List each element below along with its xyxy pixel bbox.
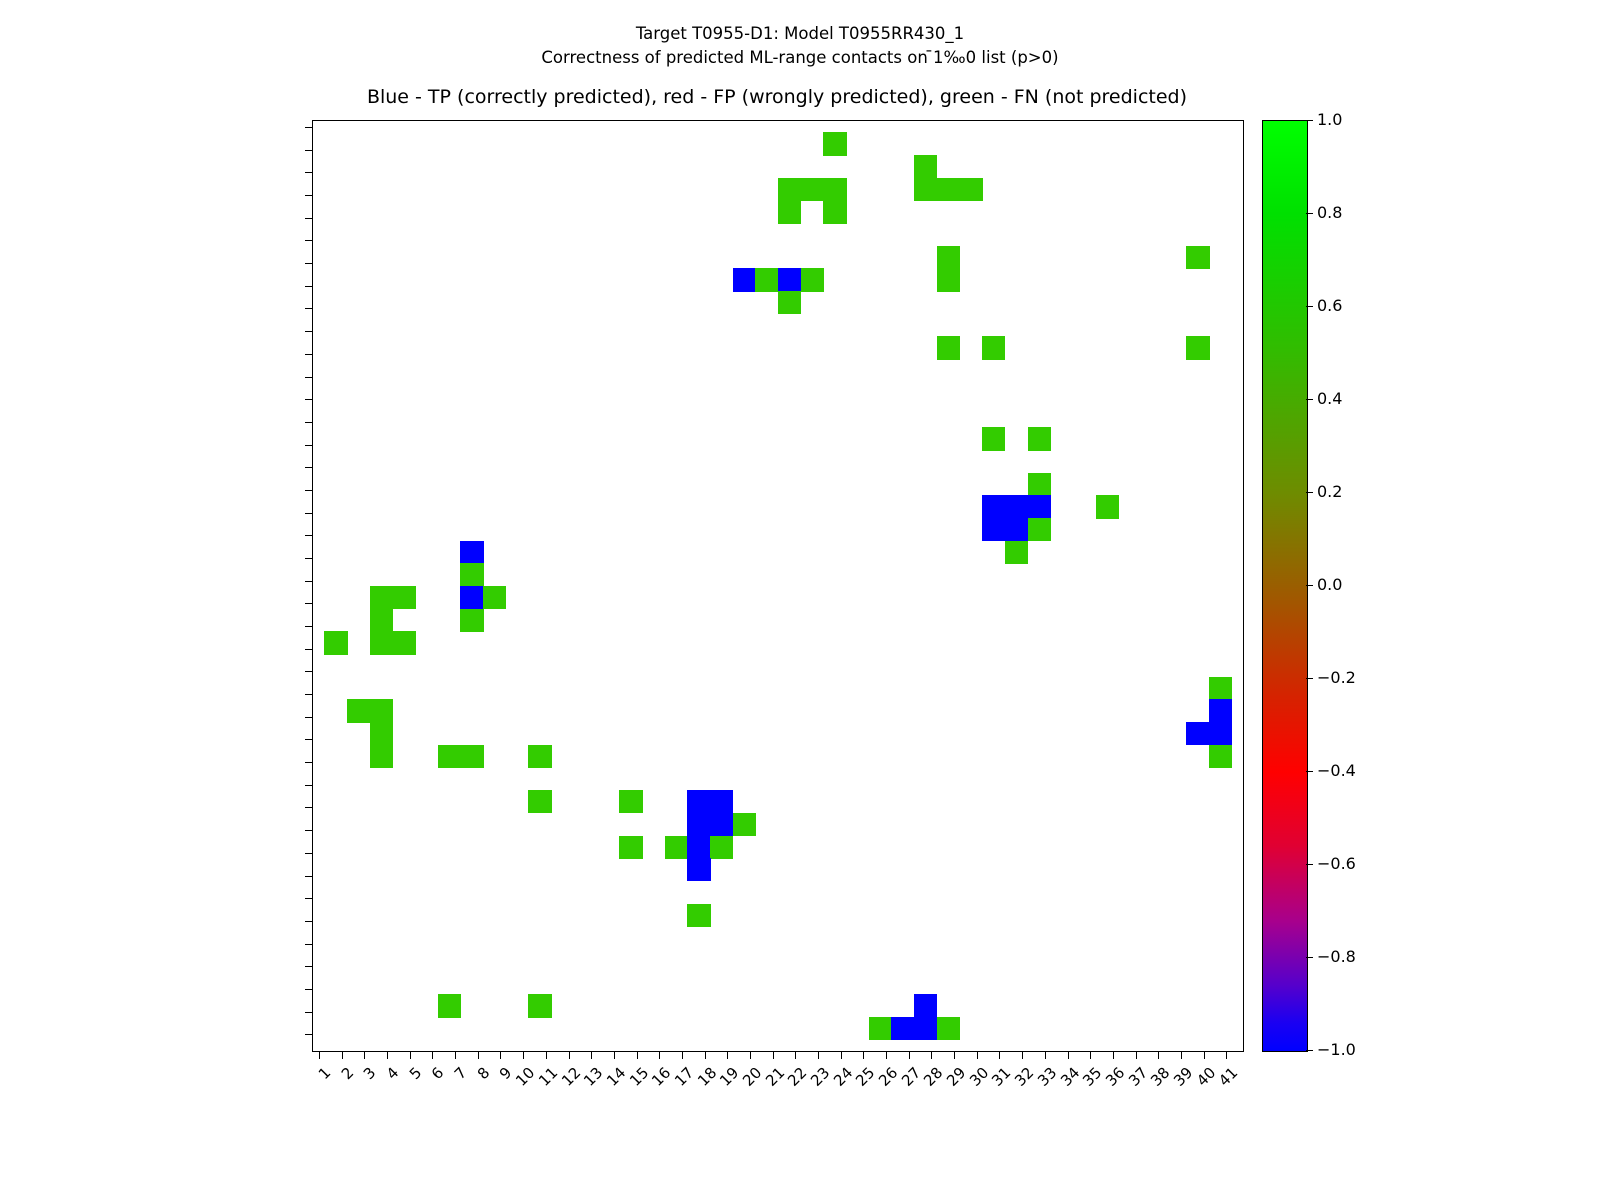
colorbar-tick-mark bbox=[1306, 399, 1313, 400]
contact-cell bbox=[483, 586, 506, 609]
contact-cell bbox=[914, 155, 937, 178]
colorbar-tick-mark bbox=[1306, 957, 1313, 958]
contact-cell bbox=[982, 518, 1005, 541]
x-tick-mark bbox=[954, 1051, 955, 1059]
contact-cell bbox=[1209, 722, 1232, 745]
colorbar-tick-mark bbox=[1306, 771, 1313, 772]
colorbar-tick-mark bbox=[1306, 585, 1313, 586]
x-tick-mark bbox=[546, 1051, 547, 1059]
contact-cell bbox=[914, 1017, 937, 1040]
x-tick-mark bbox=[319, 1051, 320, 1059]
contact-cell bbox=[778, 178, 801, 201]
colorbar bbox=[1262, 120, 1308, 1052]
x-tick-mark bbox=[342, 1051, 343, 1059]
x-tick-mark bbox=[1226, 1051, 1227, 1059]
contact-cell bbox=[528, 745, 551, 768]
contact-cell bbox=[733, 268, 756, 291]
x-tick-mark bbox=[455, 1051, 456, 1059]
contact-cell bbox=[982, 336, 1005, 359]
contact-cell bbox=[937, 1017, 960, 1040]
contact-cell bbox=[370, 631, 393, 654]
contact-cell bbox=[778, 268, 801, 291]
x-tick-mark bbox=[591, 1051, 592, 1059]
colorbar-tick-mark bbox=[1306, 492, 1313, 493]
contact-cell bbox=[937, 336, 960, 359]
x-tick-mark bbox=[1090, 1051, 1091, 1059]
x-tick-mark bbox=[977, 1051, 978, 1059]
contact-cell bbox=[755, 268, 778, 291]
contact-map-cells bbox=[313, 121, 1243, 1051]
contact-cell bbox=[460, 563, 483, 586]
x-tick-mark bbox=[410, 1051, 411, 1059]
contact-cell bbox=[823, 200, 846, 223]
contact-cell bbox=[665, 836, 688, 859]
contact-cell bbox=[823, 178, 846, 201]
contact-cell bbox=[528, 994, 551, 1017]
contact-cell bbox=[733, 813, 756, 836]
contact-cell bbox=[937, 268, 960, 291]
colorbar-tick-mark bbox=[1306, 1050, 1313, 1051]
x-tick-mark bbox=[931, 1051, 932, 1059]
contact-cell bbox=[937, 178, 960, 201]
x-tick-mark bbox=[478, 1051, 479, 1059]
contact-cell bbox=[710, 790, 733, 813]
x-tick-mark bbox=[364, 1051, 365, 1059]
contact-cell bbox=[687, 790, 710, 813]
contact-cell bbox=[619, 790, 642, 813]
x-tick-mark bbox=[750, 1051, 751, 1059]
contact-cell bbox=[687, 836, 710, 859]
x-tick-mark bbox=[637, 1051, 638, 1059]
colorbar-tick-label: −0.6 bbox=[1317, 856, 1356, 872]
contact-cell bbox=[982, 427, 1005, 450]
colorbar-tick-mark bbox=[1306, 213, 1313, 214]
x-tick-mark bbox=[909, 1051, 910, 1059]
x-tick-mark bbox=[659, 1051, 660, 1059]
contact-cell bbox=[324, 631, 347, 654]
x-tick-mark bbox=[1068, 1051, 1069, 1059]
contact-cell bbox=[460, 609, 483, 632]
contact-cell bbox=[1209, 745, 1232, 768]
contact-cell bbox=[370, 609, 393, 632]
contact-cell bbox=[1096, 495, 1119, 518]
contact-cell bbox=[370, 722, 393, 745]
contact-cell bbox=[392, 631, 415, 654]
contact-cell bbox=[1028, 473, 1051, 496]
contact-cell bbox=[1028, 495, 1051, 518]
contact-cell bbox=[687, 904, 710, 927]
contact-cell bbox=[1186, 246, 1209, 269]
contact-cell bbox=[347, 699, 370, 722]
x-tick-mark bbox=[999, 1051, 1000, 1059]
contact-cell bbox=[982, 495, 1005, 518]
contact-cell bbox=[687, 813, 710, 836]
contact-cell bbox=[823, 132, 846, 155]
contact-map-plot[interactable] bbox=[312, 120, 1244, 1052]
x-tick-mark bbox=[1022, 1051, 1023, 1059]
x-tick-mark bbox=[1181, 1051, 1182, 1059]
contact-cell bbox=[1005, 495, 1028, 518]
contact-cell bbox=[1028, 518, 1051, 541]
contact-cell bbox=[619, 836, 642, 859]
figure-suptitle: Target T0955-D1: Model T0955RR430_1 Corr… bbox=[0, 22, 1600, 70]
contact-cell bbox=[1005, 518, 1028, 541]
x-axis: 1234567891011121314151617181920212223242… bbox=[312, 1051, 1244, 1161]
contact-cell bbox=[710, 813, 733, 836]
contact-cell bbox=[914, 178, 937, 201]
contact-cell bbox=[801, 268, 824, 291]
contact-cell bbox=[710, 836, 733, 859]
contact-cell bbox=[370, 699, 393, 722]
contact-cell bbox=[1005, 541, 1028, 564]
y-axis: 1234567891011121314151617181920212223242… bbox=[0, 120, 312, 1052]
colorbar-tick-label: 0.4 bbox=[1317, 391, 1342, 407]
x-tick-mark bbox=[705, 1051, 706, 1059]
x-tick-mark bbox=[818, 1051, 819, 1059]
contact-cell bbox=[914, 994, 937, 1017]
contact-cell bbox=[1186, 722, 1209, 745]
contact-cell bbox=[687, 858, 710, 881]
contact-cell bbox=[869, 1017, 892, 1040]
x-tick-mark bbox=[773, 1051, 774, 1059]
colorbar-tick-mark bbox=[1306, 864, 1313, 865]
x-tick-mark bbox=[841, 1051, 842, 1059]
contact-cell bbox=[460, 586, 483, 609]
colorbar-tick-label: −0.2 bbox=[1317, 670, 1356, 686]
contact-cell bbox=[891, 1017, 914, 1040]
x-tick-mark bbox=[1136, 1051, 1137, 1059]
contact-cell bbox=[778, 291, 801, 314]
x-tick-mark bbox=[727, 1051, 728, 1059]
colorbar-tick-label: −0.8 bbox=[1317, 949, 1356, 965]
colorbar-tick-label: 1.0 bbox=[1317, 112, 1342, 128]
contact-cell bbox=[959, 178, 982, 201]
x-tick-mark bbox=[614, 1051, 615, 1059]
contact-cell bbox=[1186, 336, 1209, 359]
contact-cell bbox=[1209, 677, 1232, 700]
x-tick-mark bbox=[1204, 1051, 1205, 1059]
x-tick-mark bbox=[795, 1051, 796, 1059]
contact-cell bbox=[438, 994, 461, 1017]
colorbar-tick-mark bbox=[1306, 306, 1313, 307]
contact-cell bbox=[778, 200, 801, 223]
contact-cell bbox=[460, 745, 483, 768]
x-tick-mark bbox=[523, 1051, 524, 1059]
x-tick-mark bbox=[863, 1051, 864, 1059]
colorbar-tick-mark bbox=[1306, 678, 1313, 679]
contact-cell bbox=[801, 178, 824, 201]
x-tick-mark bbox=[387, 1051, 388, 1059]
x-tick-mark bbox=[682, 1051, 683, 1059]
colorbar-tick-label: 0.8 bbox=[1317, 205, 1342, 221]
contact-cell bbox=[438, 745, 461, 768]
colorbar-tick-label: 0.2 bbox=[1317, 484, 1342, 500]
colorbar-tick-label: −1.0 bbox=[1317, 1042, 1356, 1058]
x-tick-mark bbox=[886, 1051, 887, 1059]
contact-cell bbox=[392, 586, 415, 609]
contact-cell bbox=[1028, 427, 1051, 450]
contact-cell bbox=[370, 745, 393, 768]
x-tick-mark bbox=[432, 1051, 433, 1059]
x-tick-mark bbox=[1113, 1051, 1114, 1059]
x-tick-mark bbox=[569, 1051, 570, 1059]
axes-title: Blue - TP (correctly predicted), red - F… bbox=[312, 86, 1242, 108]
suptitle-line-1: Target T0955-D1: Model T0955RR430_1 bbox=[0, 22, 1600, 46]
contact-cell bbox=[370, 586, 393, 609]
suptitle-line-2: Correctness of predicted ML-range contac… bbox=[0, 46, 1600, 70]
contact-cell bbox=[528, 790, 551, 813]
colorbar-tick-mark bbox=[1306, 120, 1313, 121]
x-tick-mark bbox=[1158, 1051, 1159, 1059]
x-tick-mark bbox=[1045, 1051, 1046, 1059]
contact-cell bbox=[937, 246, 960, 269]
contact-cell bbox=[460, 541, 483, 564]
x-tick-mark bbox=[500, 1051, 501, 1059]
colorbar-tick-label: 0.6 bbox=[1317, 298, 1342, 314]
colorbar-tick-label: 0.0 bbox=[1317, 577, 1342, 593]
colorbar-tick-label: −0.4 bbox=[1317, 763, 1356, 779]
contact-cell bbox=[1209, 699, 1232, 722]
